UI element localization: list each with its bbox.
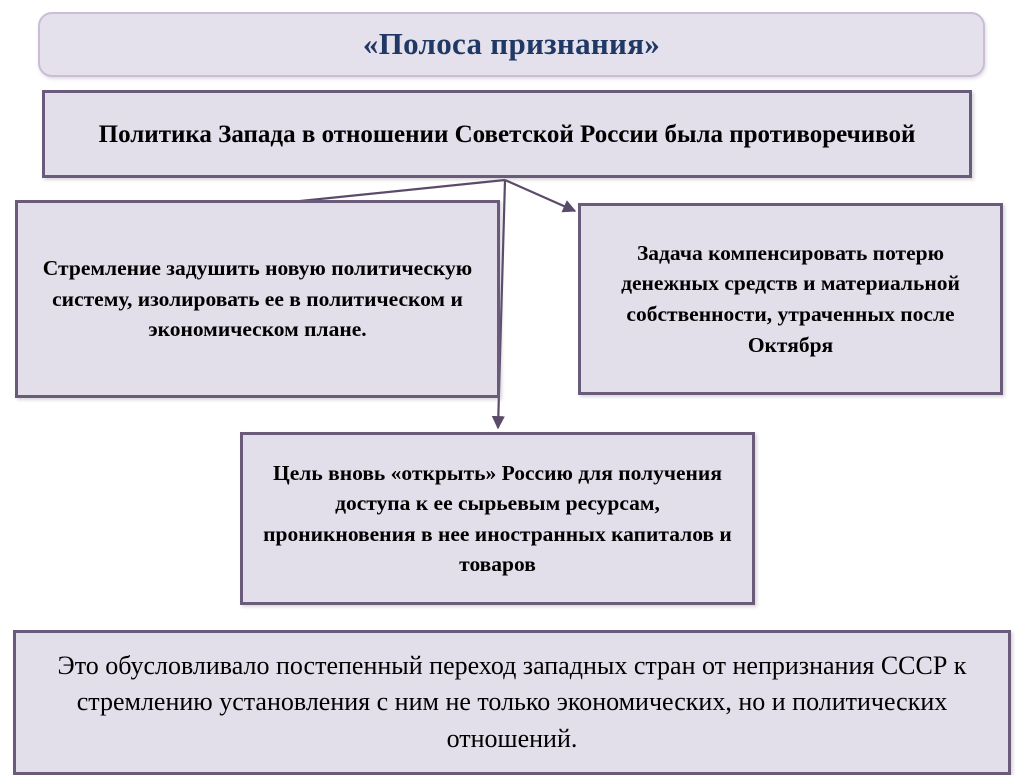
conclusion-text: Это обусловливало постепенный переход за… (16, 648, 1008, 757)
branch-right-text: Задача компенсировать потерю денежных ср… (581, 238, 1000, 360)
branch-middle-text: Цель вновь «открыть» Россию для получени… (243, 458, 752, 578)
slide-canvas: «Полоса признания» Политика Запада в отн… (0, 0, 1024, 767)
premise-statement-box: Политика Запада в отношении Советской Ро… (42, 90, 972, 178)
conclusion-box: Это обусловливало постепенный переход за… (13, 630, 1011, 775)
arrow-to-right-branch (505, 180, 575, 211)
page-title: «Полоса признания» (40, 27, 983, 61)
slide-title-box: «Полоса признания» (38, 12, 985, 77)
branch-box-left: Стремление задушить новую политическую с… (15, 200, 500, 398)
premise-statement-text: Политика Запада в отношении Советской Ро… (45, 118, 969, 151)
branch-box-right: Задача компенсировать потерю денежных ср… (578, 203, 1003, 395)
branch-left-text: Стремление задушить новую политическую с… (18, 253, 497, 345)
branch-box-middle: Цель вновь «открыть» Россию для получени… (240, 432, 755, 605)
